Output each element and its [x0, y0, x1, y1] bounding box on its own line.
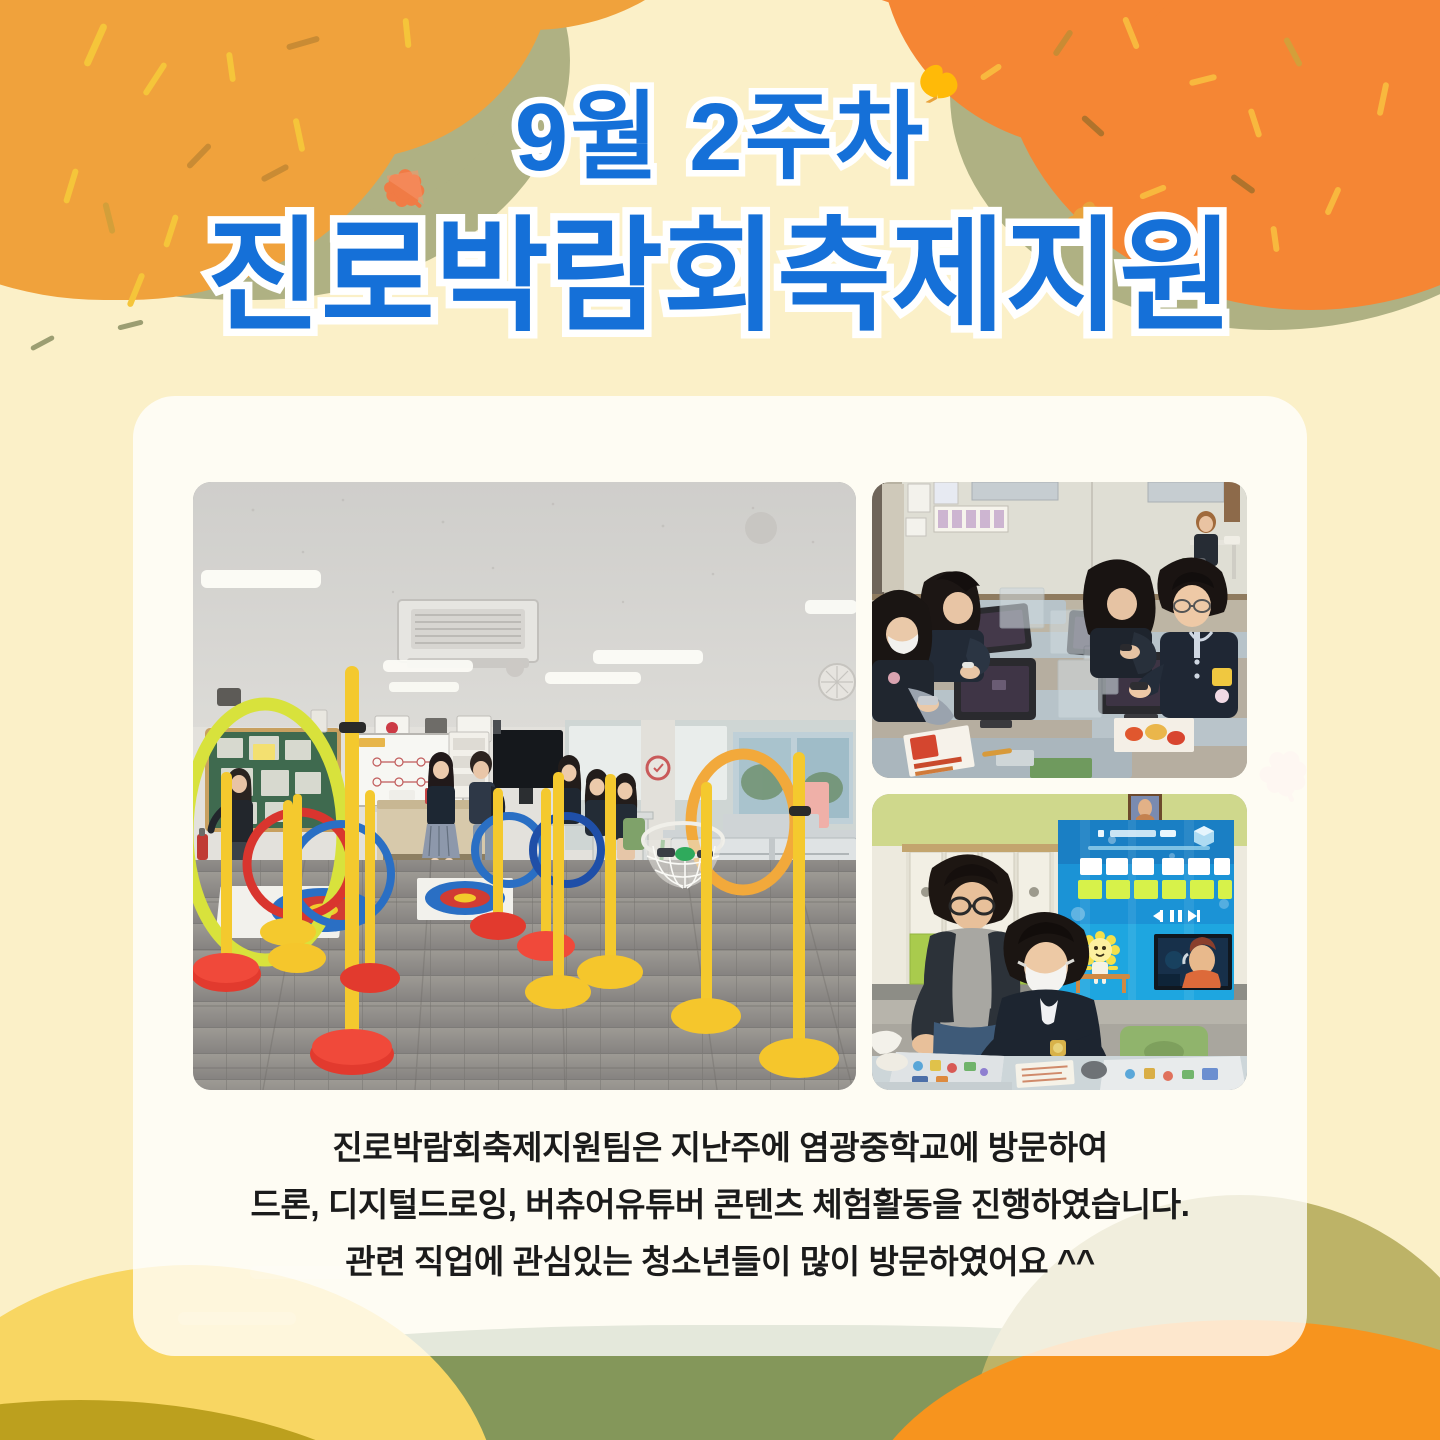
title-block: 9월 2주차 진로박람회축제지원	[0, 0, 1440, 339]
caption-block: 진로박람회축제지원팀은 지난주에 염광중학교에 방문하여 드론, 디지털드로잉,…	[163, 1120, 1277, 1290]
photo-digital-drawing[interactable]	[872, 482, 1247, 778]
gold-hill-left-shape	[0, 1400, 470, 1440]
photo-drone-obstacle-course[interactable]	[193, 482, 856, 1090]
promo-card-root: 9월 2주차 진로박람회축제지원	[0, 0, 1440, 1440]
caption-line-3: 관련 직업에 관심있는 청소년들이 많이 방문하였어요 ^^	[163, 1234, 1277, 1291]
photo-grid	[193, 482, 1247, 1090]
caption-line-1: 진로박람회축제지원팀은 지난주에 염광중학교에 방문하여	[163, 1120, 1277, 1177]
meadow-base-shape	[0, 1392, 1440, 1440]
photo-virtual-youtuber[interactable]	[872, 794, 1247, 1090]
page-title: 진로박람회축제지원	[0, 215, 1440, 339]
page-subtitle-week: 9월 2주차	[0, 88, 1440, 189]
caption-line-2: 드론, 디지털드로잉, 버츄어유튜버 콘텐츠 체험활동을 진행하였습니다.	[163, 1177, 1277, 1234]
